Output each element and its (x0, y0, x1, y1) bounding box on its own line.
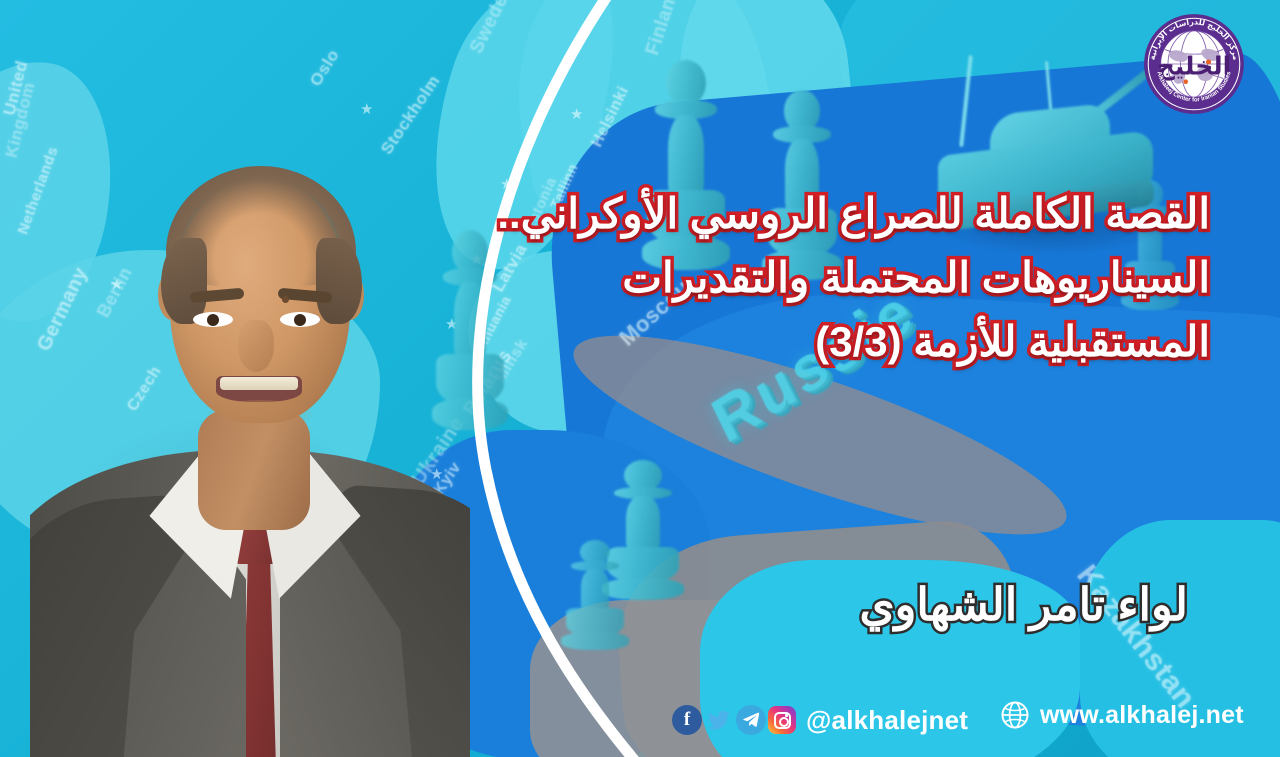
telegram-icon[interactable] (736, 705, 766, 735)
map-star-icon: ★ (570, 105, 583, 123)
headline-line-2: السيناريوهات المحتملة والتقديرات (510, 246, 1210, 310)
instagram-icon[interactable] (768, 706, 796, 734)
map-label-oslo: Oslo (306, 46, 344, 90)
social-handle-text: @alkhalejnet (806, 705, 968, 736)
map-star-icon: ★ (360, 100, 373, 118)
logo-center-text: الخليج (1157, 51, 1231, 81)
headline-line-3: المستقبلية للأزمة (3/3) (510, 310, 1210, 374)
facebook-icon[interactable]: f (672, 705, 702, 735)
globe-icon (1000, 700, 1030, 730)
chess-piece-pawn-2 (560, 540, 630, 650)
footer-website-block[interactable]: www.alkhalej.net (1000, 700, 1244, 730)
website-url-text: www.alkhalej.net (1040, 701, 1244, 730)
headline-block: القصة الكاملة للصراع الروسي الأوكراني.. … (510, 182, 1210, 373)
author-name: لواء تامر الشهاوي (859, 578, 1188, 631)
footer-social-bar: f @alkhalejnet (672, 700, 968, 740)
author-portrait-photo (30, 120, 470, 757)
social-icon-group: f (672, 705, 796, 735)
headline-line-1: القصة الكاملة للصراع الروسي الأوكراني.. (510, 182, 1210, 246)
poster-canvas: Russie SwedenOsloStockholmFinlandHelsink… (0, 0, 1280, 757)
twitter-icon[interactable] (704, 705, 734, 735)
alkhaleej-center-logo[interactable]: الخليج مركز الخليج للدراسات الإيرانية Al… (1142, 12, 1246, 116)
